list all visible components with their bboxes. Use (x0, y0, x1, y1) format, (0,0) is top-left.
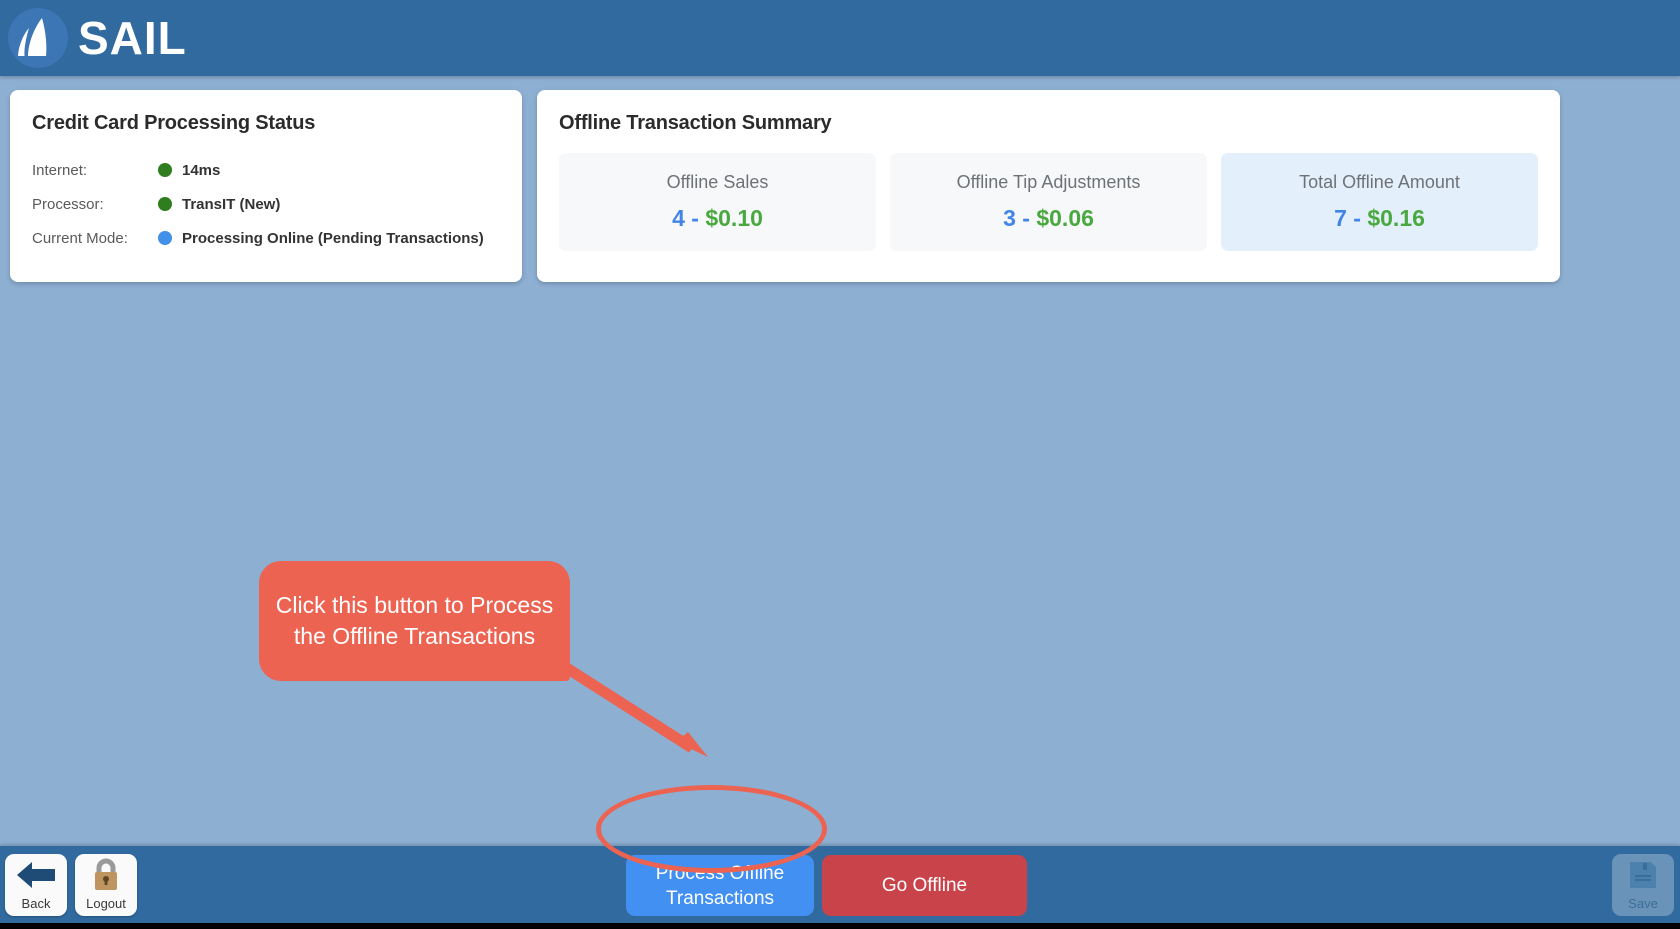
status-row-internet: Internet: 14ms (32, 153, 522, 187)
save-button[interactable]: Save (1612, 854, 1674, 916)
back-button[interactable]: Back (5, 854, 67, 916)
status-value-current-mode: Processing Online (Pending Transactions) (182, 230, 484, 247)
brand-name: SAIL (78, 15, 187, 61)
tile-label: Offline Sales (667, 172, 769, 193)
tile-count: 3 (1003, 205, 1016, 231)
application-window: SAIL Credit Card Processing Status Inter… (0, 0, 1680, 929)
logout-button-label: Logout (86, 896, 126, 916)
status-value-processor: TransIT (New) (182, 196, 280, 213)
go-offline-button[interactable]: Go Offline (822, 855, 1027, 916)
callout-text: Click this button to Process the Offline… (275, 590, 554, 652)
tile-amount: $0.16 (1367, 205, 1425, 231)
status-label-current-mode: Current Mode: (32, 230, 158, 247)
screen-bottom-edge (0, 923, 1680, 929)
instruction-callout-bubble: Click this button to Process the Offline… (259, 561, 570, 681)
tile-count: 7 (1334, 205, 1347, 231)
status-value-internet: 14ms (182, 162, 220, 179)
app-header: SAIL (0, 0, 1680, 76)
summary-tile-offline-sales: Offline Sales 4 - $0.10 (559, 153, 876, 251)
offline-transaction-summary-card: Offline Transaction Summary Offline Sale… (537, 90, 1560, 282)
summary-tile-offline-tip-adjustments: Offline Tip Adjustments 3 - $0.06 (890, 153, 1207, 251)
tile-value: 7 - $0.16 (1334, 205, 1425, 232)
save-button-label: Save (1628, 896, 1658, 916)
credit-card-processing-status-card: Credit Card Processing Status Internet: … (10, 90, 522, 282)
process-offline-transactions-button[interactable]: Process Offline Transactions (626, 855, 814, 916)
tile-label: Total Offline Amount (1299, 172, 1460, 193)
status-row-processor: Processor: TransIT (New) (32, 187, 522, 221)
status-dot-blue-current-mode (158, 231, 172, 245)
sail-boat-icon (6, 6, 70, 70)
back-button-label: Back (22, 896, 51, 916)
tile-amount: $0.06 (1036, 205, 1094, 231)
summary-tile-total-offline-amount: Total Offline Amount 7 - $0.16 (1221, 153, 1538, 251)
tile-separator: - (1016, 205, 1036, 231)
tile-amount: $0.10 (705, 205, 763, 231)
logout-button[interactable]: Logout (75, 854, 137, 916)
summary-tile-list: Offline Sales 4 - $0.10 Offline Tip Adju… (537, 135, 1560, 251)
status-card-title: Credit Card Processing Status (10, 90, 522, 135)
tile-separator: - (1347, 205, 1367, 231)
tile-count: 4 (672, 205, 685, 231)
status-dot-green-internet (158, 163, 172, 177)
status-dot-green-processor (158, 197, 172, 211)
process-offline-transactions-label: Process Offline Transactions (626, 861, 814, 911)
tile-separator: - (685, 205, 705, 231)
tile-value: 3 - $0.06 (1003, 205, 1094, 232)
status-label-processor: Processor: (32, 196, 158, 213)
summary-card-title: Offline Transaction Summary (537, 90, 1560, 135)
floppy-disk-icon (1612, 854, 1674, 896)
status-row-current-mode: Current Mode: Processing Online (Pending… (32, 221, 522, 255)
tile-label: Offline Tip Adjustments (957, 172, 1141, 193)
bottom-toolbar: Back Logout Process Offline Transactions… (0, 846, 1680, 923)
back-arrow-icon (5, 854, 67, 896)
status-row-list: Internet: 14ms Processor: TransIT (New) … (10, 153, 522, 255)
brand-logo: SAIL (0, 6, 187, 70)
status-label-internet: Internet: (32, 162, 158, 179)
padlock-icon (75, 854, 137, 896)
go-offline-label: Go Offline (882, 873, 967, 898)
tile-value: 4 - $0.10 (672, 205, 763, 232)
